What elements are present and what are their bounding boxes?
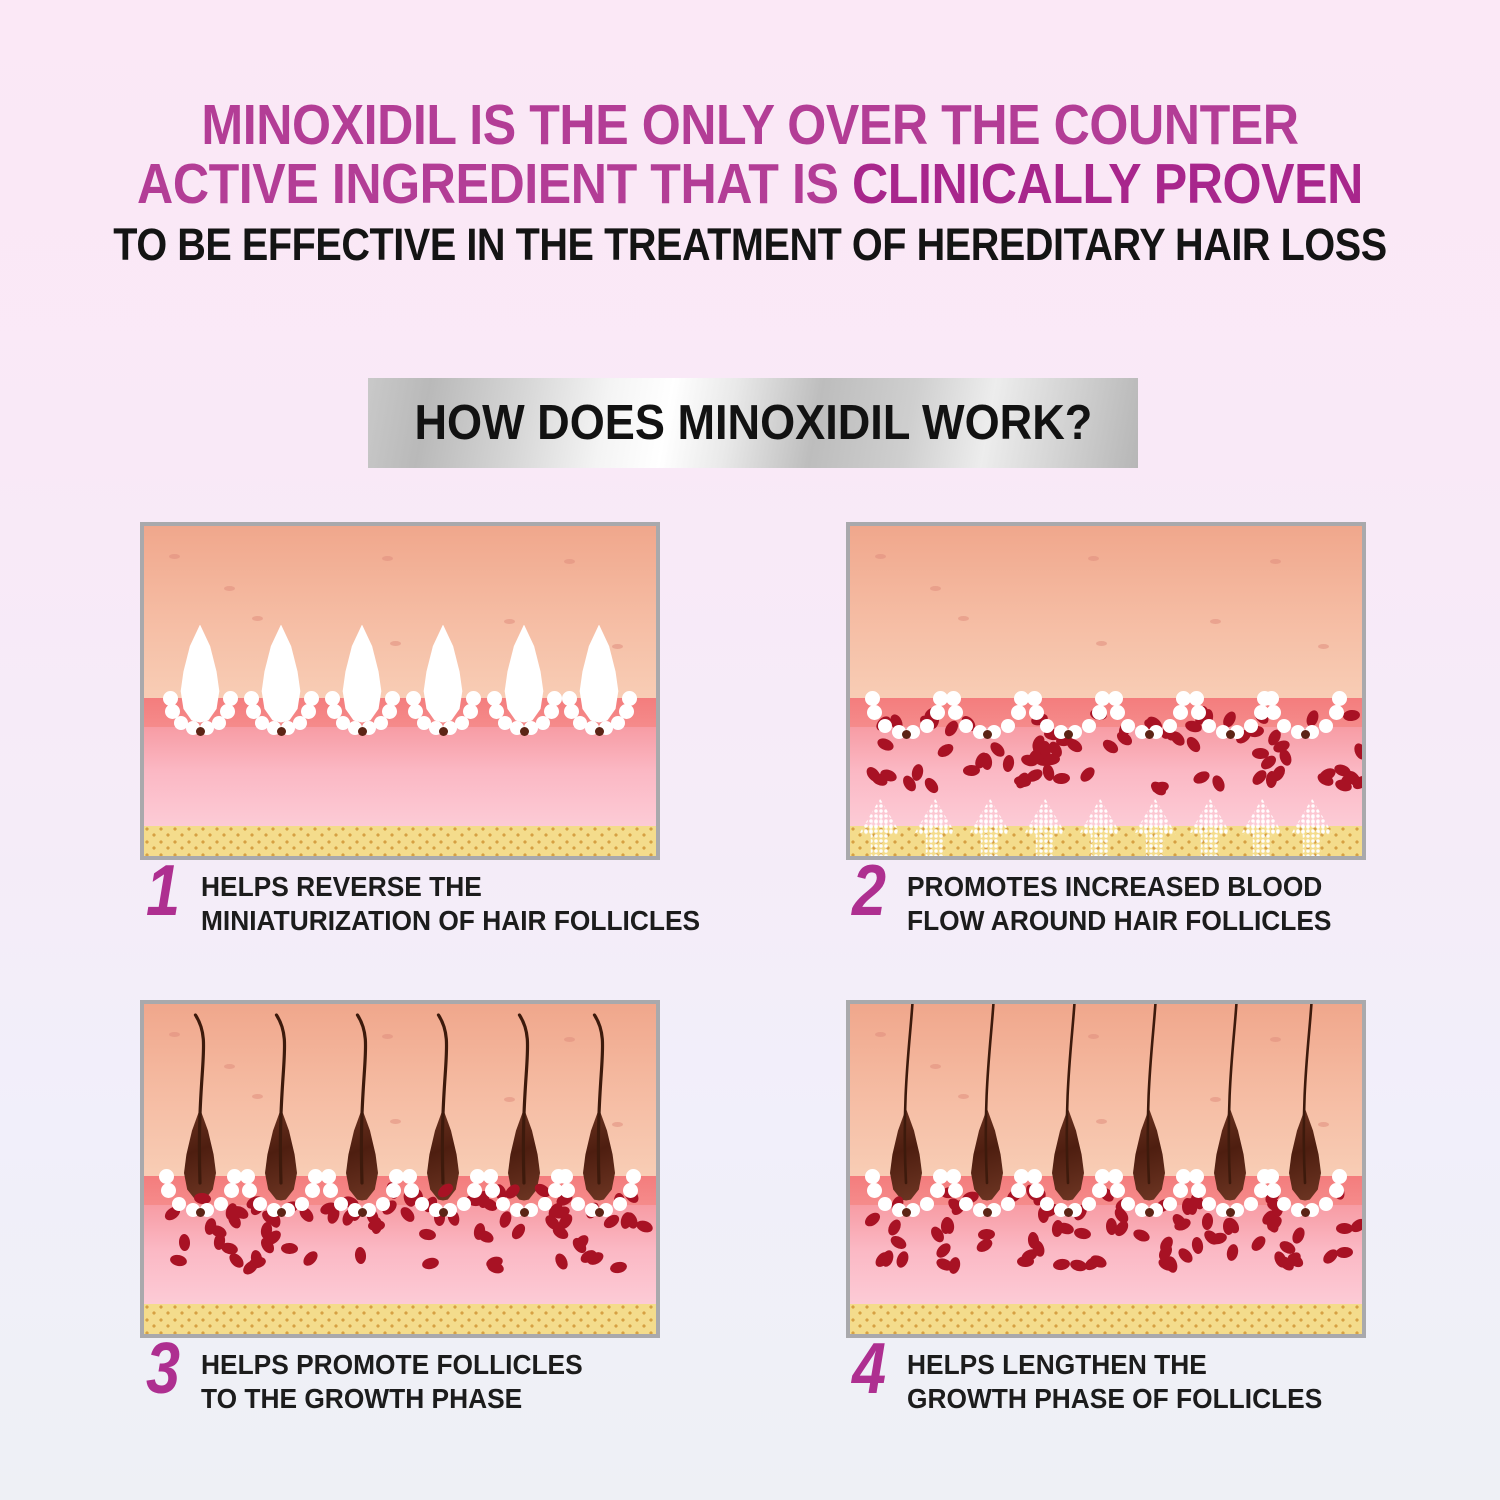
white-cell-dot	[1121, 719, 1135, 733]
white-cell-dot	[1244, 1197, 1258, 1211]
caption-3: 3 HELPS PROMOTE FOLLICLES TO THE GROWTH …	[146, 1346, 607, 1416]
hair-shaft	[322, 1013, 402, 1189]
white-cell-dot	[536, 716, 550, 730]
white-cell-dot	[1108, 691, 1123, 706]
caption-1-line-2: MINIATURIZATION OF HAIR FOLLICLES	[201, 904, 700, 938]
white-cell-dot	[1264, 1169, 1279, 1184]
white-cell-dot	[159, 1169, 174, 1184]
hair-shaft	[484, 1013, 564, 1189]
white-cell-dot	[457, 1197, 471, 1211]
step-number-4: 4	[852, 1340, 886, 1399]
papilla-dot	[196, 727, 205, 736]
caption-1: 1 HELPS REVERSE THE MINIATURIZATION OF H…	[146, 868, 732, 938]
hair-shaft	[1265, 1000, 1345, 1189]
skin-freckle	[1096, 641, 1107, 646]
papilla-dot	[595, 1208, 604, 1217]
papilla-dot	[277, 1208, 286, 1217]
papilla-dot	[1226, 1208, 1235, 1217]
white-cell-dot	[946, 691, 961, 706]
white-cell-dot	[253, 1197, 267, 1211]
white-cell-dot	[558, 1169, 573, 1184]
white-cell-dot	[415, 1197, 429, 1211]
hair-shaft	[866, 1000, 946, 1189]
white-cell-dot	[293, 716, 307, 730]
panel-3	[140, 1000, 660, 1338]
hair-shaft	[947, 1000, 1027, 1189]
headline-block: MINOXIDIL IS THE ONLY OVER THE COUNTER A…	[0, 96, 1500, 269]
skin-diagram-miniaturized-follicles	[140, 522, 660, 860]
white-cell-dot	[240, 1169, 255, 1184]
papilla-dot	[439, 727, 448, 736]
papilla-dot	[1301, 1208, 1310, 1217]
caption-text-3: HELPS PROMOTE FOLLICLES TO THE GROWTH PH…	[201, 1346, 583, 1416]
dermis-layer	[144, 727, 656, 826]
caption-1-line-1: HELPS REVERSE THE	[201, 870, 700, 904]
white-cell-dot	[1332, 1169, 1347, 1184]
white-cell-dot	[1040, 719, 1054, 733]
papilla-dot	[439, 1208, 448, 1217]
dermis-layer	[144, 1205, 656, 1304]
subcutaneous-fat-layer	[144, 1304, 656, 1334]
papilla-dot	[983, 730, 992, 739]
skin-freckle	[224, 586, 235, 591]
step-number-2: 2	[852, 862, 886, 921]
skin-freckle	[1210, 619, 1221, 624]
white-cell-dot	[1121, 1197, 1135, 1211]
papilla-dot	[520, 727, 529, 736]
caption-2: 2 PROMOTES INCREASED BLOOD FLOW AROUND H…	[852, 868, 1359, 938]
white-cell-dot	[1027, 691, 1042, 706]
white-cell-dot	[865, 1169, 880, 1184]
skin-freckle	[930, 586, 941, 591]
caption-text-4: HELPS LENGTHEN THE GROWTH PHASE OF FOLLI…	[907, 1346, 1322, 1416]
step-number-1: 1	[146, 862, 180, 921]
headline-line-1: MINOXIDIL IS THE ONLY OVER THE COUNTER	[90, 96, 1410, 155]
skin-freckle	[875, 554, 886, 559]
white-cell-dot	[1244, 719, 1258, 733]
white-cell-dot	[1082, 1197, 1096, 1211]
white-cell-dot	[1189, 691, 1204, 706]
caption-4-line-1: HELPS LENGTHEN THE	[907, 1348, 1322, 1382]
papilla-dot	[595, 727, 604, 736]
white-cell-dot	[1082, 719, 1096, 733]
panel-1	[140, 522, 660, 860]
red-blood-cell	[1252, 748, 1269, 759]
caption-3-line-2: TO THE GROWTH PHASE	[201, 1382, 583, 1416]
skin-diagram-short-hair-follicles	[140, 1000, 660, 1338]
step-number-3: 3	[146, 1340, 180, 1399]
epidermis-layer	[144, 526, 656, 698]
papilla-dot	[902, 1208, 911, 1217]
skin-freckle	[1318, 644, 1329, 649]
hair-shaft	[1028, 1000, 1108, 1189]
white-cell-dot	[1040, 1197, 1054, 1211]
skin-freckle	[958, 616, 969, 621]
white-cell-dot	[374, 716, 388, 730]
panel-4	[846, 1000, 1366, 1338]
dermis-layer	[850, 1205, 1362, 1304]
white-cell-dot	[571, 1197, 585, 1211]
red-blood-cell	[1017, 1256, 1034, 1267]
skin-diagram-blood-flow	[846, 522, 1366, 860]
banner-title: HOW DOES MINOXIDIL WORK?	[414, 395, 1092, 451]
white-cell-dot	[212, 716, 226, 730]
papilla-dot	[1064, 730, 1073, 739]
white-cell-dot	[1189, 1169, 1204, 1184]
white-cell-dot	[1277, 719, 1291, 733]
caption-4-line-2: GROWTH PHASE OF FOLLICLES	[907, 1382, 1322, 1416]
papilla-dot	[1301, 730, 1310, 739]
skin-freckle	[252, 616, 263, 621]
headline-emphasis: CLINICALLY PROVEN	[852, 152, 1363, 216]
hair-shaft	[559, 1013, 639, 1189]
hair-shaft	[1109, 1000, 1189, 1189]
white-cell-dot	[214, 1197, 228, 1211]
white-cell-dot	[613, 1197, 627, 1211]
white-cell-dot	[1163, 719, 1177, 733]
papilla-dot	[1145, 1208, 1154, 1217]
white-cell-dot	[455, 716, 469, 730]
papilla-dot	[1226, 730, 1235, 739]
white-cell-dot	[1001, 719, 1015, 733]
caption-text-2: PROMOTES INCREASED BLOOD FLOW AROUND HAI…	[907, 868, 1331, 938]
white-cell-dot	[959, 1197, 973, 1211]
caption-2-line-1: PROMOTES INCREASED BLOOD	[907, 870, 1331, 904]
papilla-dot	[358, 727, 367, 736]
skin-freckle	[564, 559, 575, 564]
white-cell-dot	[172, 1197, 186, 1211]
white-cell-dot	[334, 1197, 348, 1211]
white-cell-dot	[376, 1197, 390, 1211]
white-cell-dot	[1163, 1197, 1177, 1211]
epidermis-layer	[850, 526, 1362, 698]
hair-shaft	[160, 1013, 240, 1189]
skin-freckle	[169, 554, 180, 559]
panel-2	[846, 522, 1366, 860]
papilla-dot	[983, 1208, 992, 1217]
subcutaneous-fat-layer	[144, 826, 656, 856]
skin-diagram-long-hair-follicles	[846, 1000, 1366, 1338]
white-cell-dot	[1319, 1197, 1333, 1211]
caption-4: 4 HELPS LENGTHEN THE GROWTH PHASE OF FOL…	[852, 1346, 1349, 1416]
white-cell-dot	[402, 1169, 417, 1184]
white-cell-dot	[1332, 691, 1347, 706]
white-cell-dot	[1319, 719, 1333, 733]
white-cell-dot	[538, 1197, 552, 1211]
skin-freckle	[382, 556, 393, 561]
hair-shaft	[241, 1013, 321, 1189]
papilla-dot	[358, 1208, 367, 1217]
subcutaneous-fat-layer	[850, 1304, 1362, 1334]
white-cell-dot	[1277, 1197, 1291, 1211]
white-cell-dot	[483, 1169, 498, 1184]
section-banner: HOW DOES MINOXIDIL WORK?	[368, 378, 1138, 468]
white-cell-dot	[1001, 1197, 1015, 1211]
white-cell-dot	[1264, 691, 1279, 706]
white-cell-dot	[295, 1197, 309, 1211]
hair-shaft	[403, 1013, 483, 1189]
white-cell-dot	[611, 716, 625, 730]
white-cell-dot	[865, 691, 880, 706]
headline-line-2-prefix: ACTIVE INGREDIENT THAT IS	[137, 152, 852, 216]
headline-line-3: TO BE EFFECTIVE IN THE TREATMENT OF HERE…	[90, 222, 1410, 268]
white-cell-dot	[946, 1169, 961, 1184]
skin-freckle	[504, 619, 515, 624]
skin-freckle	[1270, 559, 1281, 564]
white-cell-dot	[496, 1197, 510, 1211]
white-cell-dot	[1202, 1197, 1216, 1211]
white-cell-dot	[878, 719, 892, 733]
papilla-dot	[196, 1208, 205, 1217]
caption-2-line-2: FLOW AROUND HAIR FOLLICLES	[907, 904, 1331, 938]
white-cell-dot	[920, 719, 934, 733]
papilla-dot	[1064, 1208, 1073, 1217]
skin-freckle	[390, 641, 401, 646]
white-cell-dot	[878, 1197, 892, 1211]
headline-line-2: ACTIVE INGREDIENT THAT IS CLINICALLY PRO…	[90, 155, 1410, 214]
white-cell-dot	[1108, 1169, 1123, 1184]
papilla-dot	[277, 727, 286, 736]
skin-freckle	[612, 644, 623, 649]
white-cell-dot	[321, 1169, 336, 1184]
white-cell-dot	[626, 1169, 641, 1184]
white-cell-dot	[1202, 719, 1216, 733]
papilla-dot	[520, 1208, 529, 1217]
caption-3-line-1: HELPS PROMOTE FOLLICLES	[201, 1348, 583, 1382]
hair-shaft	[1190, 1000, 1270, 1189]
skin-freckle	[1088, 556, 1099, 561]
caption-text-1: HELPS REVERSE THE MINIATURIZATION OF HAI…	[201, 868, 700, 938]
white-cell-dot	[1027, 1169, 1042, 1184]
white-cell-dot	[959, 719, 973, 733]
papilla-dot	[902, 730, 911, 739]
papilla-dot	[1145, 730, 1154, 739]
white-cell-dot	[920, 1197, 934, 1211]
